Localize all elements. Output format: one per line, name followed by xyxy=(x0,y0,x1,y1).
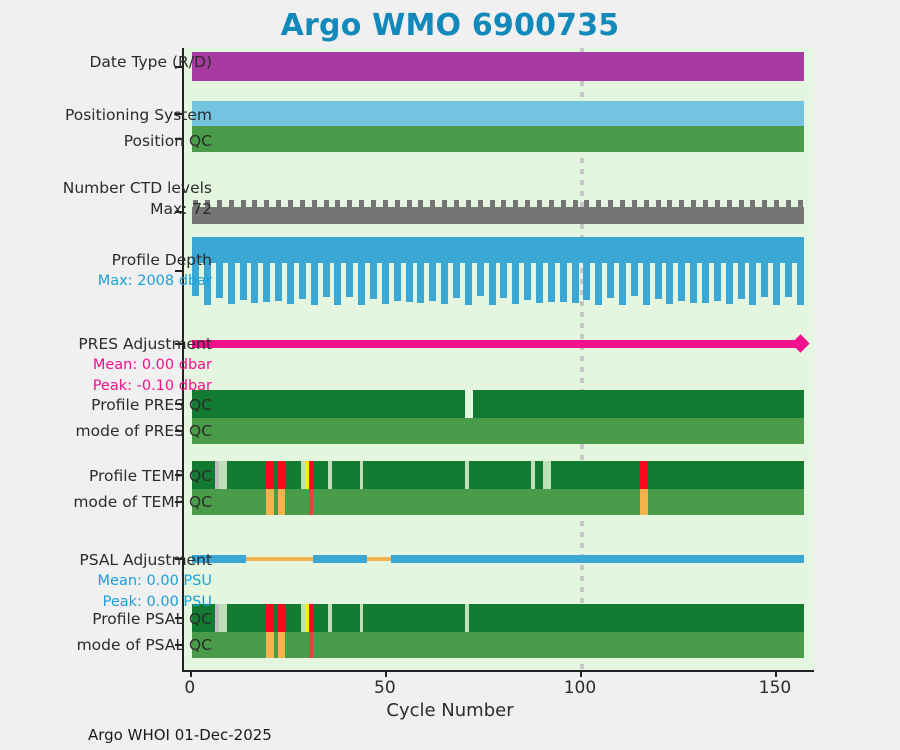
qc-segment-profile-temp-qc xyxy=(332,461,359,489)
tooth-number-ctd-levels xyxy=(715,200,720,207)
tooth-profile-depth xyxy=(453,263,460,298)
tooth-number-ctd-levels xyxy=(703,200,708,207)
qc-segment-profile-temp-qc xyxy=(313,461,329,489)
tooth-profile-depth xyxy=(619,263,626,305)
qc-segment-profile-temp-qc xyxy=(543,461,551,489)
qc-segment-profile-temp-qc xyxy=(219,461,227,489)
band-date-type xyxy=(184,52,814,81)
tooth-number-ctd-levels xyxy=(774,200,779,207)
plot-area xyxy=(182,48,814,670)
tooth-number-ctd-levels xyxy=(691,200,696,207)
label-profile-pres-qc: Profile PRES QC xyxy=(91,396,212,415)
segment-position-qc xyxy=(192,126,804,152)
qc-segment-profile-psal-qc xyxy=(313,604,329,632)
tooth-number-ctd-levels xyxy=(466,200,471,207)
line-segment-psal-adjustment xyxy=(313,555,368,563)
tooth-profile-depth xyxy=(607,263,614,298)
tooth-profile-depth xyxy=(749,263,756,305)
tooth-profile-depth xyxy=(263,263,270,302)
qc-segment-profile-temp-qc xyxy=(648,461,804,489)
qc-segment-profile-pres-qc xyxy=(192,390,465,418)
tooth-number-ctd-levels xyxy=(217,200,222,207)
tooth-number-ctd-levels xyxy=(786,200,791,207)
tooth-number-ctd-levels xyxy=(229,200,234,207)
qc-segment-profile-pres-qc xyxy=(473,390,805,418)
tooth-number-ctd-levels xyxy=(478,200,483,207)
band-number-ctd-levels xyxy=(184,200,814,224)
tooth-profile-depth xyxy=(334,263,341,305)
band-profile-pres-qc xyxy=(184,390,814,418)
band-position-qc xyxy=(184,126,814,152)
tooth-profile-depth xyxy=(797,263,804,305)
tooth-number-ctd-levels xyxy=(644,200,649,207)
x-tick-100 xyxy=(580,670,582,677)
label-positioning-system: Positioning System xyxy=(65,106,212,125)
tooth-profile-depth xyxy=(287,263,294,304)
tooth-number-ctd-levels xyxy=(442,200,447,207)
tooth-number-ctd-levels xyxy=(241,200,246,207)
x-tick-50 xyxy=(385,670,387,677)
tooth-profile-depth xyxy=(323,263,330,297)
band-profile-depth xyxy=(184,237,814,305)
base-profile-depth xyxy=(192,237,804,263)
tooth-profile-depth xyxy=(643,263,650,305)
qc-segment-mode-of-psal-qc xyxy=(278,632,286,658)
tooth-profile-depth xyxy=(216,263,223,298)
tooth-number-ctd-levels xyxy=(739,200,744,207)
line-segment-psal-adjustment xyxy=(246,557,312,561)
tooth-profile-depth xyxy=(465,263,472,305)
tooth-number-ctd-levels xyxy=(537,200,542,207)
tooth-profile-depth xyxy=(394,263,401,301)
tooth-profile-depth xyxy=(714,263,721,301)
tooth-number-ctd-levels xyxy=(798,200,803,207)
label-psal-adjustment: PSAL Adjustment xyxy=(79,551,212,570)
tooth-number-ctd-levels xyxy=(513,200,518,207)
page-title: Argo WMO 6900735 xyxy=(0,8,900,43)
qc-segment-profile-psal-qc xyxy=(469,604,805,632)
qc-segment-mode-of-psal-qc xyxy=(266,632,274,658)
tooth-profile-depth xyxy=(761,263,768,297)
tooth-profile-depth xyxy=(631,263,638,296)
plot-inner xyxy=(184,48,814,670)
qc-segment-mode-of-temp-qc xyxy=(285,489,308,515)
tooth-profile-depth xyxy=(240,263,247,300)
qc-segment-profile-psal-qc xyxy=(285,604,301,632)
label-psal-adjustment-sub1: Mean: 0.00 PSU xyxy=(98,572,212,591)
qc-segment-mode-of-temp-qc xyxy=(313,489,641,515)
tooth-number-ctd-levels xyxy=(549,200,554,207)
band-mode-of-psal-qc xyxy=(184,632,814,658)
tooth-profile-depth xyxy=(346,263,353,297)
line-segment-psal-adjustment xyxy=(391,555,805,563)
band-profile-psal-qc xyxy=(184,604,814,632)
tooth-number-ctd-levels xyxy=(762,200,767,207)
tooth-profile-depth xyxy=(228,263,235,304)
tooth-number-ctd-levels xyxy=(264,200,269,207)
tooth-profile-depth xyxy=(358,263,365,305)
tooth-number-ctd-levels xyxy=(407,200,412,207)
qc-segment-profile-temp-qc xyxy=(278,461,286,489)
tooth-number-ctd-levels xyxy=(679,200,684,207)
tooth-number-ctd-levels xyxy=(371,200,376,207)
qc-segment-mode-of-pres-qc xyxy=(192,418,804,444)
tooth-profile-depth xyxy=(595,263,602,305)
tooth-profile-depth xyxy=(512,263,519,304)
tooth-number-ctd-levels xyxy=(454,200,459,207)
tooth-number-ctd-levels xyxy=(418,200,423,207)
qc-segment-profile-temp-qc xyxy=(640,461,648,489)
band-pres-adjustment xyxy=(184,340,814,348)
qc-segment-profile-temp-qc xyxy=(266,461,274,489)
tooth-number-ctd-levels xyxy=(667,200,672,207)
qc-segment-profile-temp-qc xyxy=(551,461,641,489)
tooth-number-ctd-levels xyxy=(276,200,281,207)
tooth-profile-depth xyxy=(738,263,745,299)
argo-float-summary-figure: Argo WMO 6900735 Date Type (R/D)Position… xyxy=(0,0,900,750)
qc-segment-profile-temp-qc xyxy=(535,461,543,489)
qc-segment-profile-psal-qc xyxy=(363,604,464,632)
marker-diamond-pres-adjustment xyxy=(792,334,810,352)
qc-segment-mode-of-temp-qc xyxy=(640,489,648,515)
qc-segment-profile-psal-qc xyxy=(332,604,359,632)
qc-segment-mode-of-psal-qc xyxy=(285,632,308,658)
base-number-ctd-levels xyxy=(192,207,804,224)
tooth-profile-depth xyxy=(572,263,579,303)
qc-segment-profile-temp-qc xyxy=(363,461,464,489)
label-profile-psal-qc: Profile PSAL QC xyxy=(92,610,212,629)
tooth-number-ctd-levels xyxy=(501,200,506,207)
tooth-number-ctd-levels xyxy=(252,200,257,207)
tooth-profile-depth xyxy=(500,263,507,298)
qc-segment-mode-of-temp-qc xyxy=(278,489,286,515)
tooth-number-ctd-levels xyxy=(490,200,495,207)
tooth-number-ctd-levels xyxy=(383,200,388,207)
tooth-number-ctd-levels xyxy=(347,200,352,207)
tooth-profile-depth xyxy=(726,263,733,304)
x-tick-label-50: 50 xyxy=(374,678,396,698)
qc-segment-profile-psal-qc xyxy=(266,604,274,632)
qc-segment-mode-of-psal-qc xyxy=(313,632,805,658)
band-profile-temp-qc xyxy=(184,461,814,489)
tooth-profile-depth xyxy=(382,263,389,304)
tooth-profile-depth xyxy=(583,263,590,300)
label-number-ctd-levels: Number CTD levels xyxy=(63,179,212,198)
label-mode-of-temp-qc: mode of TEMP QC xyxy=(73,493,212,512)
tooth-number-ctd-levels xyxy=(573,200,578,207)
tooth-profile-depth xyxy=(560,263,567,302)
tooth-number-ctd-levels xyxy=(525,200,530,207)
label-position-qc: Position QC xyxy=(124,132,212,151)
x-axis-title: Cycle Number xyxy=(0,700,900,721)
label-pres-adjustment: PRES Adjustment xyxy=(78,335,212,354)
tooth-number-ctd-levels xyxy=(359,200,364,207)
label-profile-depth-sub1: Max: 2008 dbar xyxy=(98,272,212,291)
tooth-number-ctd-levels xyxy=(608,200,613,207)
label-profile-temp-qc: Profile TEMP QC xyxy=(89,467,212,486)
label-profile-depth: Profile Depth xyxy=(112,251,212,270)
tooth-profile-depth xyxy=(429,263,436,301)
tooth-number-ctd-levels xyxy=(312,200,317,207)
x-tick-label-150: 150 xyxy=(759,678,791,698)
tooth-profile-depth xyxy=(406,263,413,302)
label-pres-adjustment-sub2: Peak: -0.10 dbar xyxy=(93,377,212,396)
tooth-number-ctd-levels xyxy=(561,200,566,207)
tooth-profile-depth xyxy=(773,263,780,305)
label-number-ctd-levels-sub1: Max: 72 xyxy=(150,200,212,219)
label-mode-of-psal-qc: mode of PSAL QC xyxy=(77,636,212,655)
band-psal-adjustment xyxy=(184,555,814,563)
tooth-number-ctd-levels xyxy=(656,200,661,207)
tooth-number-ctd-levels xyxy=(430,200,435,207)
tooth-profile-depth xyxy=(441,263,448,304)
qc-segment-mode-of-temp-qc xyxy=(648,489,804,515)
qc-segment-mode-of-temp-qc xyxy=(266,489,274,515)
tooth-profile-depth xyxy=(655,263,662,299)
tooth-profile-depth xyxy=(548,263,555,302)
label-pres-adjustment-sub1: Mean: 0.00 dbar xyxy=(93,356,212,375)
tooth-profile-depth xyxy=(299,263,306,299)
tooth-profile-depth xyxy=(370,263,377,299)
tooth-number-ctd-levels xyxy=(727,200,732,207)
band-mode-of-temp-qc xyxy=(184,489,814,515)
tooth-profile-depth xyxy=(666,263,673,304)
qc-segment-profile-psal-qc xyxy=(227,604,266,632)
tooth-number-ctd-levels xyxy=(324,200,329,207)
tooth-profile-depth xyxy=(489,263,496,305)
label-mode-of-pres-qc: mode of PRES QC xyxy=(76,422,212,441)
tooth-number-ctd-levels xyxy=(335,200,340,207)
tooth-profile-depth xyxy=(702,263,709,303)
line-segment-psal-adjustment xyxy=(367,557,390,561)
band-positioning-system xyxy=(184,101,814,126)
tooth-number-ctd-levels xyxy=(395,200,400,207)
segment-date-type xyxy=(192,52,804,81)
tooth-profile-depth xyxy=(417,263,424,303)
tooth-number-ctd-levels xyxy=(584,200,589,207)
tooth-profile-depth xyxy=(477,263,484,296)
qc-segment-profile-temp-qc xyxy=(285,461,301,489)
line-pres-adjustment xyxy=(192,340,801,348)
tooth-profile-depth xyxy=(536,263,543,303)
tooth-profile-depth xyxy=(251,263,258,303)
tooth-profile-depth xyxy=(524,263,531,300)
tooth-number-ctd-levels xyxy=(632,200,637,207)
tooth-profile-depth xyxy=(690,263,697,303)
label-date-type: Date Type (R/D) xyxy=(89,53,212,72)
x-tick-label-0: 0 xyxy=(184,678,195,698)
tooth-profile-depth xyxy=(311,263,318,305)
tooth-number-ctd-levels xyxy=(288,200,293,207)
tooth-number-ctd-levels xyxy=(596,200,601,207)
tooth-number-ctd-levels xyxy=(300,200,305,207)
x-tick-label-100: 100 xyxy=(564,678,596,698)
tooth-profile-depth xyxy=(275,263,282,301)
tooth-number-ctd-levels xyxy=(750,200,755,207)
tooth-profile-depth xyxy=(785,263,792,297)
band-mode-of-pres-qc xyxy=(184,418,814,444)
segment-positioning-system xyxy=(192,101,804,126)
qc-segment-profile-psal-qc xyxy=(219,604,227,632)
x-tick-0 xyxy=(190,670,192,677)
qc-segment-profile-temp-qc xyxy=(469,461,531,489)
qc-segment-profile-temp-qc xyxy=(227,461,266,489)
tooth-profile-depth xyxy=(678,263,685,301)
x-tick-150 xyxy=(775,670,777,677)
qc-segment-profile-psal-qc xyxy=(278,604,286,632)
footer-credit: Argo WHOI 01-Dec-2025 xyxy=(88,726,272,744)
x-axis-line xyxy=(182,670,814,672)
tooth-number-ctd-levels xyxy=(620,200,625,207)
